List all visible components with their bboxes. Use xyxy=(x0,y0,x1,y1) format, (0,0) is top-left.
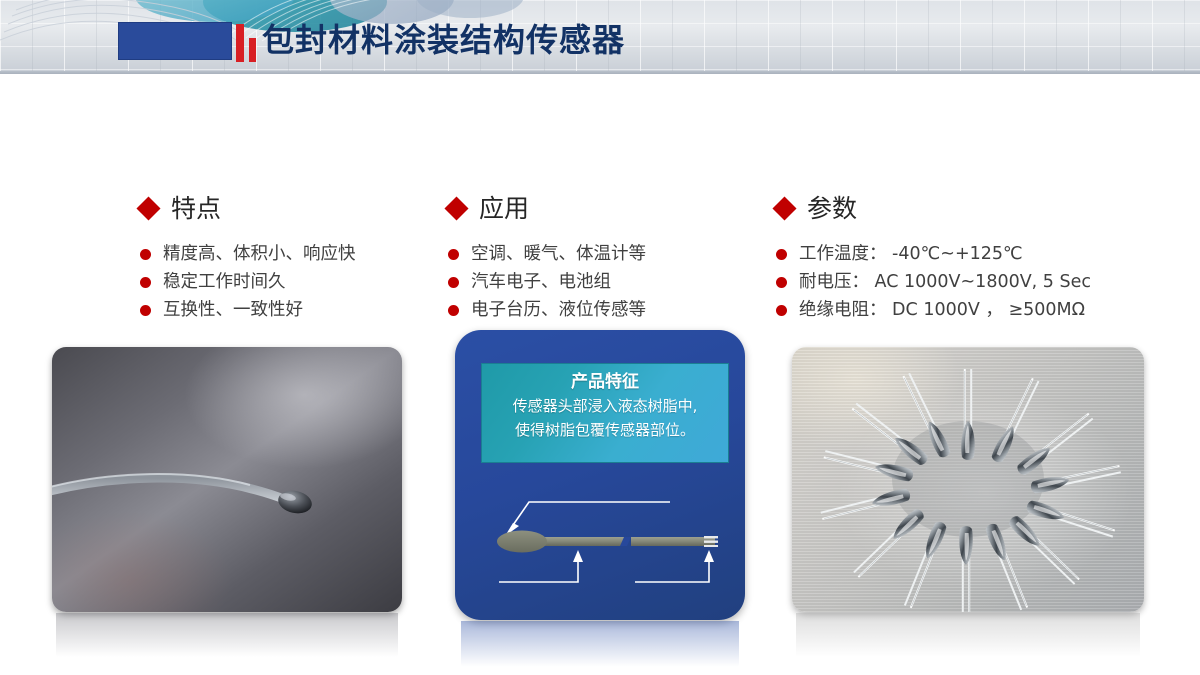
column-title-parameters: 参数 xyxy=(807,196,857,221)
dot-bullet-icon xyxy=(448,249,459,260)
dot-bullet-icon xyxy=(776,249,787,260)
dot-bullet-icon xyxy=(448,305,459,316)
list-item: 稳定工作时间久 xyxy=(140,270,440,295)
feature-line-1: 传感器头部浸入液态树脂中, xyxy=(482,394,728,418)
bullet-text: 汽车电子、电池组 xyxy=(471,270,611,295)
bullet-text: 稳定工作时间久 xyxy=(163,270,286,295)
column-title-applications: 应用 xyxy=(479,196,529,221)
list-item: 耐电压： AC 1000V~1800V, 5 Sec xyxy=(776,270,1176,295)
column-title-features: 特点 xyxy=(171,196,221,221)
feature-callout-box: 产品特征 传感器头部浸入液态树脂中, 使得树脂包覆传感器部位。 xyxy=(481,363,729,463)
bullet-text: 耐电压： AC 1000V~1800V, 5 Sec xyxy=(799,270,1091,295)
dot-bullet-icon xyxy=(776,277,787,288)
column-heading: 参数 xyxy=(776,190,1176,226)
page-title: 包封材料涂装结构传感器 xyxy=(262,18,625,62)
diamond-bullet-icon xyxy=(136,196,160,220)
list-item: 汽车电子、电池组 xyxy=(448,270,748,295)
list-item: 空调、暖气、体温计等 xyxy=(448,242,748,267)
list-item: 工作温度： -40℃~+125℃ xyxy=(776,242,1176,267)
header-red-bar-tall xyxy=(236,24,244,62)
dot-bullet-icon xyxy=(140,305,151,316)
bullet-text: 电子台历、液位传感等 xyxy=(471,298,646,323)
reflection-right-photo xyxy=(796,613,1140,663)
bullet-text: 绝缘电阻： DC 1000V ， ≥500MΩ xyxy=(799,298,1085,323)
list-item: 绝缘电阻： DC 1000V ， ≥500MΩ xyxy=(776,298,1176,323)
header-blue-block xyxy=(118,22,232,60)
photo-thermistor-array xyxy=(792,347,1144,612)
reflection-left-photo xyxy=(56,613,398,663)
page-header: 包封材料涂装结构传感器 xyxy=(0,0,1200,74)
header-divider xyxy=(0,71,1200,74)
column-features: 特点 精度高、体积小、响应快 稳定工作时间久 互换性、一致性好 xyxy=(140,190,440,326)
dot-bullet-icon xyxy=(140,277,151,288)
list-item: 电子台历、液位传感等 xyxy=(448,298,748,323)
bullet-list-parameters: 工作温度： -40℃~+125℃ 耐电压： AC 1000V~1800V, 5 … xyxy=(776,242,1176,323)
bullet-text: 空调、暖气、体温计等 xyxy=(471,242,646,267)
column-heading: 特点 xyxy=(140,190,440,226)
list-item: 精度高、体积小、响应快 xyxy=(140,242,440,267)
dot-bullet-icon xyxy=(776,305,787,316)
column-applications: 应用 空调、暖气、体温计等 汽车电子、电池组 电子台历、液位传感等 xyxy=(448,190,748,326)
bullet-list-features: 精度高、体积小、响应快 稳定工作时间久 互换性、一致性好 xyxy=(140,242,440,323)
panel-product-feature: 产品特征 传感器头部浸入液态树脂中, 使得树脂包覆传感器部位。 xyxy=(455,330,745,620)
bullet-text: 精度高、体积小、响应快 xyxy=(163,242,356,267)
dot-bullet-icon xyxy=(448,277,459,288)
column-heading: 应用 xyxy=(448,190,748,226)
diamond-bullet-icon xyxy=(772,196,796,220)
bullet-text: 工作温度： -40℃~+125℃ xyxy=(799,242,1023,267)
dot-bullet-icon xyxy=(140,249,151,260)
list-item: 互换性、一致性好 xyxy=(140,298,440,323)
bullet-text: 互换性、一致性好 xyxy=(163,298,303,323)
feature-line-2: 使得树脂包覆传感器部位。 xyxy=(482,418,728,442)
reflection-center-panel xyxy=(461,621,739,673)
diamond-bullet-icon xyxy=(444,196,468,220)
column-parameters: 参数 工作温度： -40℃~+125℃ 耐电压： AC 1000V~1800V,… xyxy=(776,190,1176,326)
feature-title: 产品特征 xyxy=(482,370,728,394)
photo-sensor-probe xyxy=(52,347,402,612)
header-red-bar-short xyxy=(249,38,256,62)
bullet-list-applications: 空调、暖气、体温计等 汽车电子、电池组 电子台历、液位传感等 xyxy=(448,242,748,323)
